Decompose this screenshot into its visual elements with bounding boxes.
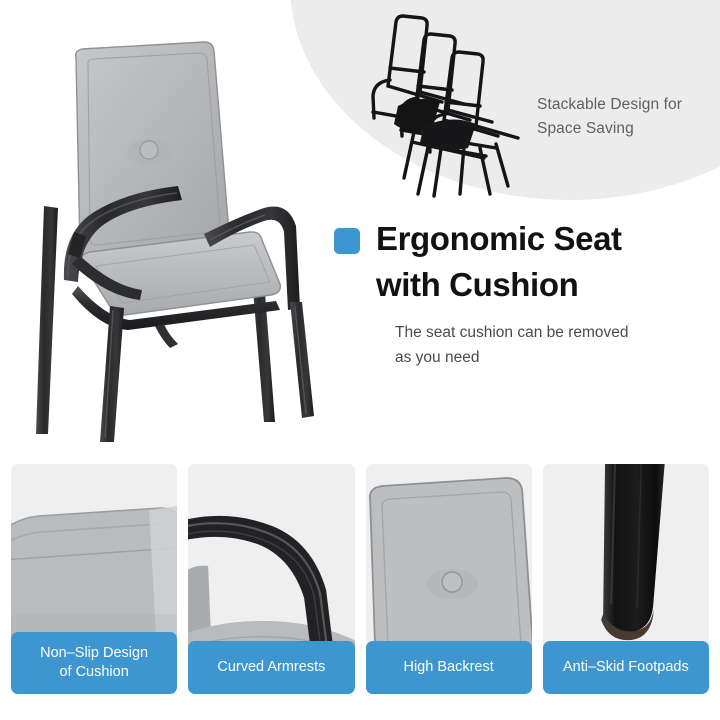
feature-label-line-2: of Cushion: [40, 663, 148, 682]
stackable-caption-line-2: Space Saving: [537, 117, 717, 141]
feature-label-high-backrest: High Backrest: [366, 641, 532, 694]
stackable-design-caption: Stackable Design for Space Saving: [537, 93, 717, 140]
feature-label-line-1: Curved Armrests: [217, 658, 325, 677]
feature-label-line-1: Anti–Skid Footpads: [563, 658, 689, 677]
feature-label-curved-armrests: Curved Armrests: [188, 641, 354, 694]
headline-block: Ergonomic Seat with Cushion The seat cus…: [334, 216, 714, 371]
product-feature-infographic: Stackable Design for Space Saving Ergono…: [0, 0, 720, 720]
feature-label-line-1: High Backrest: [403, 658, 493, 677]
subheading-line-1: The seat cushion can be removed: [395, 321, 710, 346]
feature-label-non-slip-cushion: Non–Slip Design of Cushion: [11, 632, 177, 694]
subheading-text: The seat cushion can be removed as you n…: [395, 321, 710, 371]
headline-line-2: with Cushion: [376, 262, 622, 308]
subheading-line-2: as you need: [395, 346, 710, 371]
page-title: Ergonomic Seat with Cushion: [376, 216, 622, 307]
feature-label-anti-skid-footpads: Anti–Skid Footpads: [543, 641, 709, 694]
headline-line-1: Ergonomic Seat: [376, 216, 622, 262]
feature-card-curved-armrests[interactable]: Curved Armrests: [188, 464, 354, 694]
stackable-caption-line-1: Stackable Design for: [537, 93, 717, 117]
feature-card-high-backrest[interactable]: High Backrest: [366, 464, 532, 694]
hero-chair-image: [18, 18, 318, 448]
blue-square-marker-icon: [334, 228, 360, 254]
feature-card-anti-skid-footpads[interactable]: Anti–Skid Footpads: [543, 464, 709, 694]
feature-label-line-1: Non–Slip Design: [40, 644, 148, 663]
stacked-chairs-image: [368, 8, 530, 198]
feature-thumbnail-strip: Non–Slip Design of Cushion: [0, 464, 720, 694]
feature-card-non-slip-cushion[interactable]: Non–Slip Design of Cushion: [11, 464, 177, 694]
